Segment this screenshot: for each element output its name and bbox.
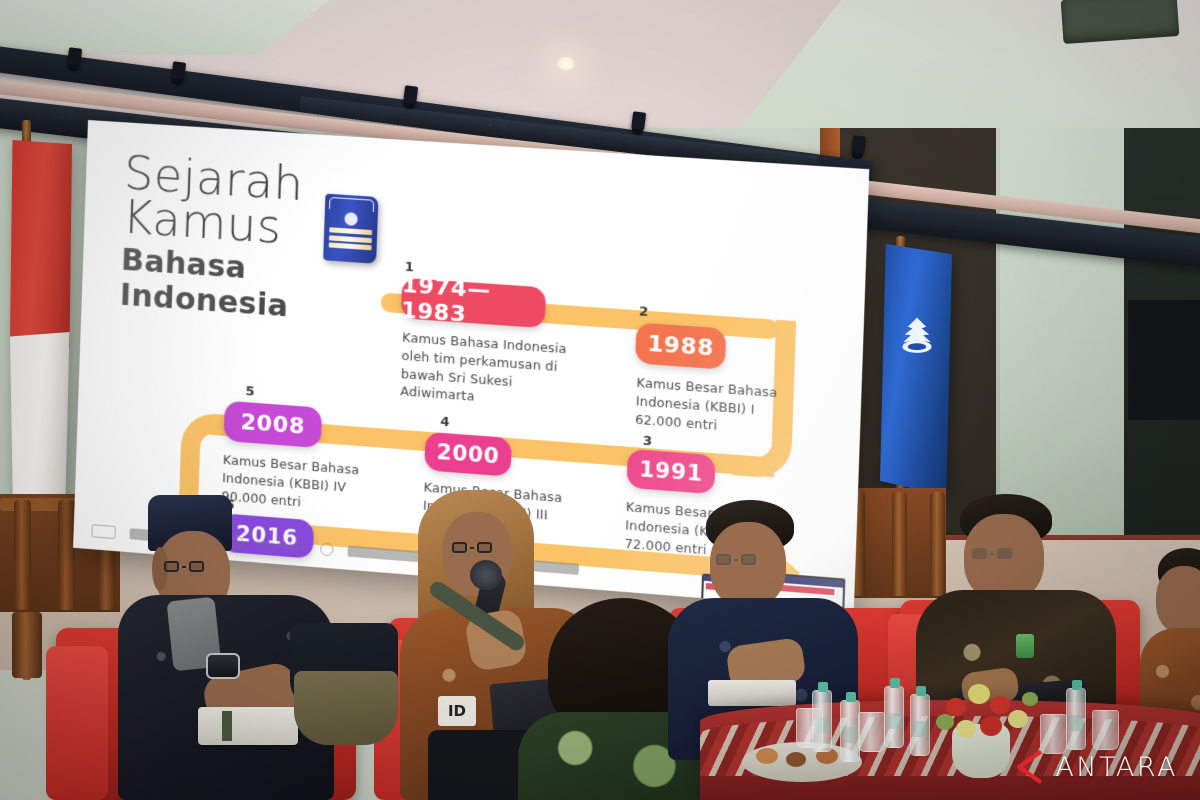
flagpole-base-indonesia	[12, 612, 42, 678]
head	[1156, 566, 1200, 634]
timeline-pill-year[interactable]: 1991	[627, 449, 716, 494]
notebook[interactable]	[708, 680, 796, 706]
water-bottle[interactable]	[884, 686, 904, 748]
timeline-pill-year[interactable]: 1974—1983	[401, 278, 546, 329]
step-number: 5	[245, 384, 255, 400]
timeline-description: Kamus Besar Bahasa Indonesia (KBBI) I 62…	[635, 374, 805, 441]
wooden-post	[892, 492, 907, 596]
flower	[968, 684, 990, 704]
timeline-pill-year[interactable]: 2008	[224, 401, 323, 449]
drinking-glass[interactable]	[1092, 710, 1119, 750]
timeline-pill-year[interactable]: 2000	[424, 432, 512, 477]
flag-cloth	[880, 244, 952, 496]
eyeglasses-icon	[972, 548, 1012, 559]
name-badge	[1016, 634, 1034, 658]
water-bottle[interactable]	[910, 694, 930, 756]
tut-wuri-handayani-icon	[894, 314, 940, 358]
eyeglasses-icon	[164, 561, 204, 572]
sofa-arm-left	[46, 646, 108, 800]
flower	[956, 720, 976, 738]
screen-pull-handle[interactable]	[489, 117, 505, 127]
foliage	[1022, 692, 1038, 706]
eyeglasses-icon	[716, 554, 756, 565]
wall-monitor-panel	[1128, 300, 1200, 420]
notebook-band	[222, 711, 232, 741]
snack-item	[756, 748, 778, 764]
step-number: 2	[639, 304, 649, 320]
drinking-glass[interactable]	[796, 708, 823, 748]
indonesian-flag	[10, 140, 72, 540]
panelist-1	[118, 495, 358, 800]
ceiling-downlight	[556, 57, 576, 70]
wristwatch	[206, 653, 240, 679]
antara-watermark: ANTARA	[1014, 750, 1178, 784]
partner-logo-1	[91, 524, 115, 539]
bag-body	[294, 671, 398, 745]
antara-chevron-icon	[1014, 750, 1048, 784]
flag-red-band	[10, 140, 72, 348]
timeline-description: Kamus Bahasa Indonesia oleh tim perkamus…	[400, 328, 567, 412]
flower-arrangement	[932, 676, 1042, 750]
foliage	[936, 714, 954, 730]
eyeglasses-icon	[452, 542, 492, 553]
timeline-pill-year[interactable]: 1988	[635, 322, 726, 369]
snack-item	[786, 752, 806, 767]
microphone-head	[470, 560, 502, 590]
water-bottle[interactable]	[840, 700, 860, 762]
step-number: 4	[440, 415, 450, 431]
antara-wordmark: ANTARA	[1055, 752, 1178, 783]
kbbi-cover-title	[329, 227, 373, 253]
step-number: 3	[642, 434, 652, 450]
flower	[980, 716, 1002, 736]
drinking-glass[interactable]	[858, 712, 885, 752]
flower	[946, 698, 966, 716]
step-number: 1	[404, 260, 414, 276]
conference-room-scene: Sejarah Kamus Bahasa Indonesia 1 1974—19	[0, 0, 1200, 800]
kbbi-seal-icon	[344, 212, 358, 226]
notebook[interactable]	[198, 707, 298, 745]
drinking-glass[interactable]	[1040, 714, 1067, 754]
head	[710, 522, 786, 608]
wooden-post	[14, 500, 31, 610]
name-card: ID	[438, 696, 476, 726]
flower	[990, 696, 1010, 714]
kbbi-book-icon	[323, 194, 378, 264]
kemendikbud-flag	[880, 244, 952, 496]
wooden-post	[58, 500, 75, 610]
flower	[1008, 710, 1028, 728]
water-bottle[interactable]	[1066, 688, 1086, 750]
